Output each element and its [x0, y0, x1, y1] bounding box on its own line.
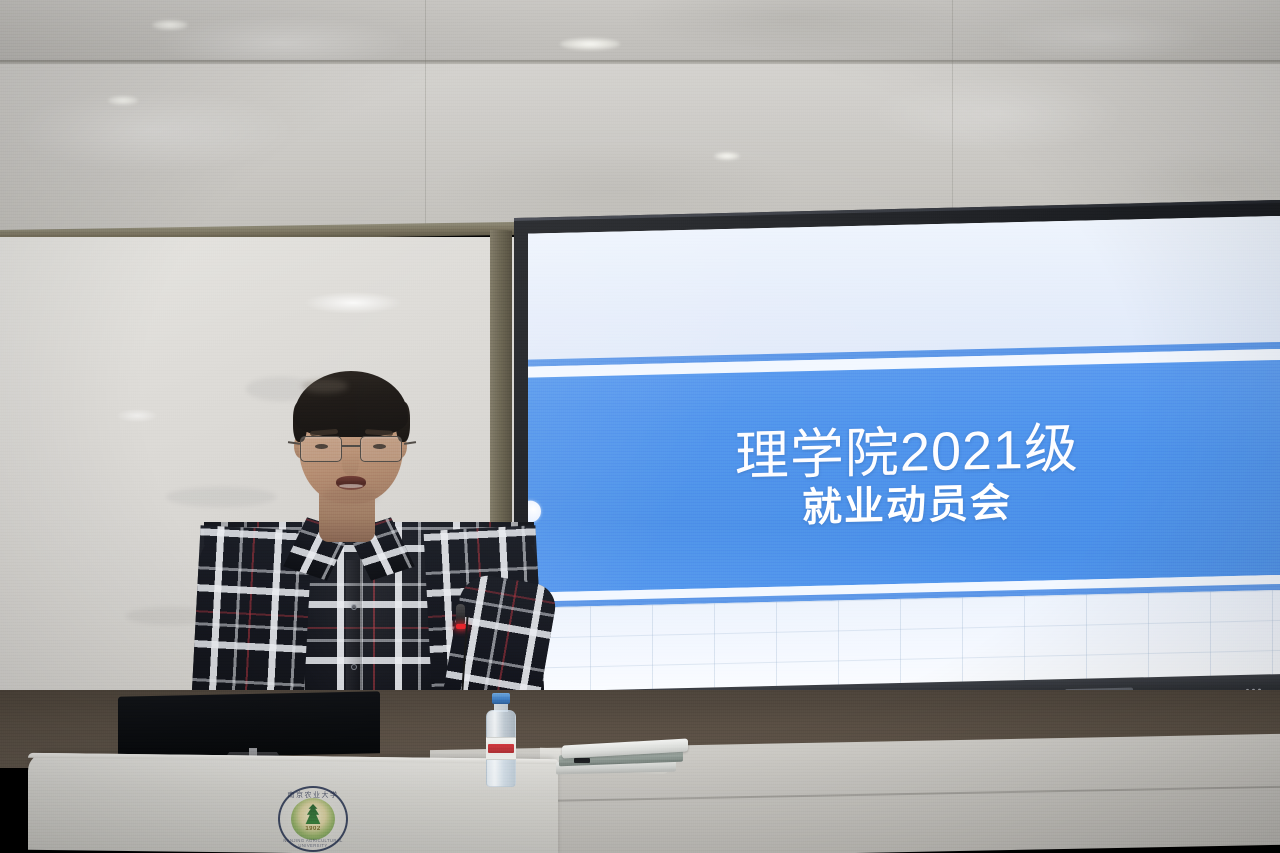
slide-title-line-1: 理学院2021级	[735, 421, 1079, 486]
presenter-nose	[342, 452, 359, 476]
wall-tile-joint	[952, 0, 953, 230]
slide-title-line-2: 就业动员会	[802, 481, 1012, 530]
binder-clip-icon	[574, 758, 590, 763]
display-bezel: 理学院2021级 就业动员会	[514, 200, 1280, 710]
presentation-slide: 理学院2021级 就业动员会	[528, 216, 1280, 694]
slide-top-band	[528, 216, 1280, 360]
eyeglass-lens-right	[360, 436, 402, 462]
bottle-cap	[492, 693, 510, 704]
presentation-photo-scene: 理学院2021级 就业动员会 TCL	[0, 0, 1280, 853]
wall-upper-panel	[0, 0, 1280, 62]
presenter-hair	[294, 371, 408, 437]
display-panel[interactable]: 理学院2021级 就业动员会	[528, 216, 1280, 694]
ceiling-light-reflection	[108, 96, 138, 105]
ceiling-light-reflection	[152, 20, 188, 30]
bottle-label-accent	[488, 744, 514, 753]
bottle-neck	[494, 703, 508, 712]
eyeglass-temple-right	[404, 441, 416, 444]
tcl-interactive-display[interactable]: 理学院2021级 就业动员会 TCL	[514, 218, 1280, 738]
eyeglass-bridge	[342, 445, 360, 447]
lavalier-microphone-icon	[456, 604, 465, 626]
slide-title-block: 理学院2021级 就业动员会	[528, 360, 1280, 592]
bottle-label	[486, 737, 516, 760]
emblem-founded-year: 1902	[278, 826, 348, 832]
shirt-button	[351, 604, 357, 610]
eyeglass-lens-left	[300, 436, 342, 462]
documents-stack	[556, 742, 692, 776]
water-bottle	[483, 693, 519, 787]
wall-marble-texture	[0, 0, 1280, 62]
emblem-english-name: NANJING AGRICULTURAL UNIVERSITY	[278, 838, 348, 848]
microphone-led-indicator	[456, 624, 466, 629]
ceiling-light-reflection	[714, 152, 740, 160]
shirt-button	[351, 664, 357, 670]
university-emblem: 南京农业大学 1902 NANJING AGRICULTURAL UNIVERS…	[278, 786, 348, 852]
ceiling-light-reflection	[560, 38, 620, 50]
wall-tile-joint	[425, 0, 426, 230]
presenter-chin-shadow	[322, 488, 378, 504]
